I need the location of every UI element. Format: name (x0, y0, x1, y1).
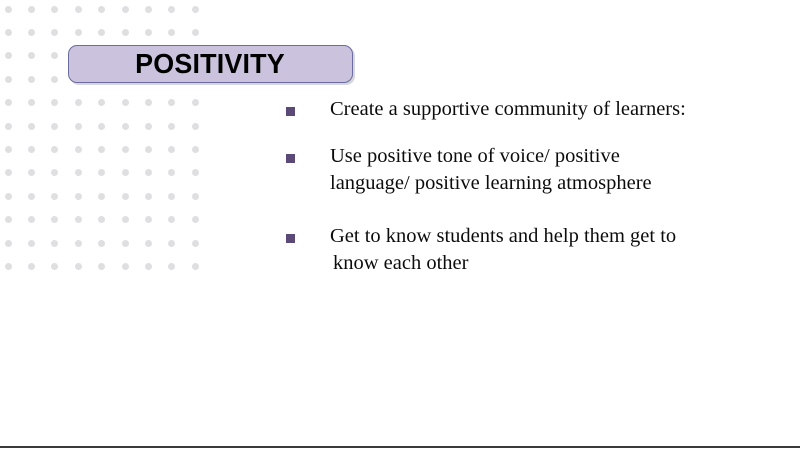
bullet-list: Create a supportive community of learner… (286, 96, 786, 277)
decorative-dot (145, 123, 152, 130)
decorative-dot (5, 29, 12, 36)
decorative-dot (98, 146, 105, 153)
decorative-dot (28, 263, 35, 270)
list-item-label: Use positive tone of voice/ positive lan… (330, 143, 786, 197)
list-item-label: Create a supportive community of learner… (330, 96, 786, 123)
decorative-dot (192, 216, 199, 223)
decorative-dot (192, 263, 199, 270)
decorative-dot (5, 76, 12, 83)
decorative-dot (168, 29, 175, 36)
decorative-dot (145, 263, 152, 270)
decorative-dot (51, 240, 58, 247)
decorative-dot (28, 52, 35, 59)
decorative-dot (5, 169, 12, 176)
decorative-dot (5, 52, 12, 59)
decorative-dot (5, 216, 12, 223)
page-title: POSITIVITY (136, 50, 286, 78)
slide-canvas: POSITIVITY Create a supportive community… (0, 0, 800, 451)
decorative-dot (5, 146, 12, 153)
decorative-dot (5, 240, 12, 247)
decorative-dot (145, 6, 152, 13)
slide-title-plaque: POSITIVITY (68, 45, 353, 83)
decorative-dot (51, 123, 58, 130)
list-item: Use positive tone of voice/ positive lan… (286, 143, 786, 197)
decorative-dot (168, 146, 175, 153)
decorative-dot (98, 216, 105, 223)
decorative-dot-grid (0, 0, 205, 276)
list-item: Get to know students and help them get t… (286, 223, 786, 277)
decorative-dot (28, 99, 35, 106)
decorative-dot (168, 263, 175, 270)
decorative-dot (192, 240, 199, 247)
decorative-dot (168, 99, 175, 106)
square-bullet-icon (286, 234, 295, 243)
decorative-dot (145, 193, 152, 200)
decorative-dot (192, 29, 199, 36)
decorative-dot (122, 29, 129, 36)
decorative-dot (75, 29, 82, 36)
decorative-dot (75, 123, 82, 130)
decorative-dot (168, 240, 175, 247)
decorative-dot (145, 29, 152, 36)
decorative-dot (5, 123, 12, 130)
decorative-dot (5, 99, 12, 106)
footer-divider (0, 446, 800, 448)
decorative-dot (122, 216, 129, 223)
list-item: Create a supportive community of learner… (286, 96, 786, 123)
decorative-dot (168, 123, 175, 130)
decorative-dot (122, 123, 129, 130)
decorative-dot (28, 169, 35, 176)
decorative-dot (145, 99, 152, 106)
decorative-dot (51, 193, 58, 200)
decorative-dot (51, 146, 58, 153)
decorative-dot (51, 6, 58, 13)
decorative-dot (75, 6, 82, 13)
decorative-dot (75, 263, 82, 270)
decorative-dot (192, 6, 199, 13)
decorative-dot (192, 193, 199, 200)
decorative-dot (192, 146, 199, 153)
decorative-dot (98, 123, 105, 130)
decorative-dot (168, 216, 175, 223)
decorative-dot (98, 29, 105, 36)
decorative-dot (168, 193, 175, 200)
decorative-dot (51, 76, 58, 83)
decorative-dot (168, 6, 175, 13)
decorative-dot (122, 240, 129, 247)
decorative-dot (98, 263, 105, 270)
decorative-dot (98, 99, 105, 106)
decorative-dot (145, 216, 152, 223)
decorative-dot (192, 169, 199, 176)
decorative-dot (122, 263, 129, 270)
decorative-dot (98, 240, 105, 247)
decorative-dot (51, 216, 58, 223)
decorative-dot (5, 263, 12, 270)
decorative-dot (51, 52, 58, 59)
decorative-dot (5, 6, 12, 13)
decorative-dot (75, 240, 82, 247)
decorative-dot (51, 263, 58, 270)
decorative-dot (28, 123, 35, 130)
decorative-dot (28, 216, 35, 223)
decorative-dot (122, 169, 129, 176)
decorative-dot (28, 193, 35, 200)
decorative-dot (28, 240, 35, 247)
decorative-dot (122, 193, 129, 200)
square-bullet-icon (286, 154, 295, 163)
square-bullet-icon (286, 107, 295, 116)
decorative-dot (145, 146, 152, 153)
decorative-dot (75, 216, 82, 223)
decorative-dot (28, 29, 35, 36)
decorative-dot (75, 169, 82, 176)
decorative-dot (145, 240, 152, 247)
decorative-dot (75, 193, 82, 200)
decorative-dot (28, 146, 35, 153)
decorative-dot (192, 123, 199, 130)
decorative-dot (192, 99, 199, 106)
decorative-dot (75, 146, 82, 153)
decorative-dot (5, 193, 12, 200)
decorative-dot (51, 29, 58, 36)
decorative-dot (145, 169, 152, 176)
decorative-dot (122, 6, 129, 13)
decorative-dot (28, 6, 35, 13)
decorative-dot (98, 169, 105, 176)
decorative-dot (51, 169, 58, 176)
decorative-dot (98, 193, 105, 200)
decorative-dot (75, 99, 82, 106)
decorative-dot (98, 6, 105, 13)
decorative-dot (122, 99, 129, 106)
decorative-dot (168, 169, 175, 176)
decorative-dot (122, 146, 129, 153)
decorative-dot (51, 99, 58, 106)
list-item-label: Get to know students and help them get t… (333, 223, 786, 277)
decorative-dot (28, 76, 35, 83)
